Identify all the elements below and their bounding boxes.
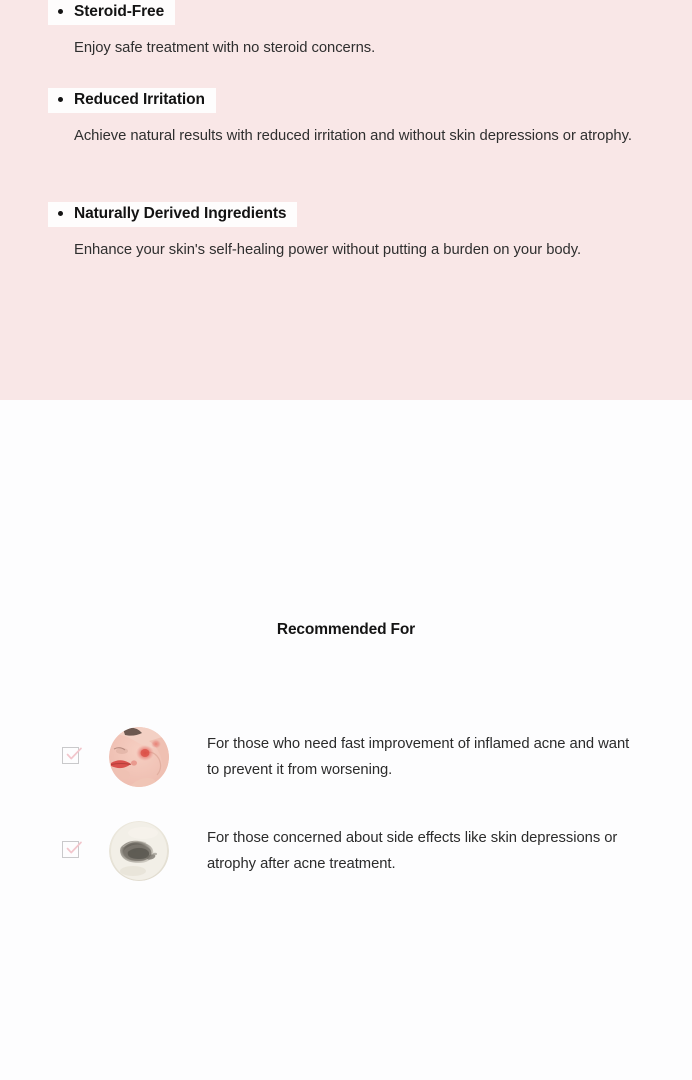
inflamed-acne-face-photo — [109, 727, 169, 787]
benefit-title-highlight: Naturally Derived Ingredients — [48, 202, 297, 227]
benefits-section: Steroid-Free Enjoy safe treatment with n… — [0, 0, 692, 400]
benefit-heading-row: Steroid-Free — [0, 0, 692, 25]
benefit-heading-row: Naturally Derived Ingredients — [0, 202, 692, 227]
benefit-description: Achieve natural results with reduced irr… — [0, 122, 692, 151]
benefit-title: Reduced Irritation — [74, 91, 205, 109]
bullet-dot-icon — [58, 211, 63, 216]
skin-depression-atrophy-photo — [109, 821, 169, 881]
benefit-description: Enhance your skin's self-healing power w… — [0, 236, 692, 265]
benefit-description: Enjoy safe treatment with no steroid con… — [0, 34, 692, 63]
benefit-item: Naturally Derived Ingredients Enhance yo… — [0, 202, 692, 264]
benefit-title-highlight: Steroid-Free — [48, 0, 175, 25]
bullet-dot-icon — [58, 9, 63, 14]
recommended-for-title: Recommended For — [0, 621, 692, 639]
recommendation-text: For those who need fast improvement of i… — [207, 731, 637, 783]
benefit-item: Steroid-Free Enjoy safe treatment with n… — [0, 0, 692, 62]
recommendation-text: For those concerned about side effects l… — [207, 825, 637, 877]
recommended-list: For those who need fast improvement of i… — [0, 721, 692, 909]
recommendation-row: For those concerned about side effects l… — [0, 815, 692, 887]
recommended-for-section: Recommended For — [0, 400, 692, 1080]
bullet-dot-icon — [58, 97, 63, 102]
benefit-title-highlight: Reduced Irritation — [48, 88, 216, 113]
checkbox-checked-icon — [62, 747, 82, 767]
checkbox-checked-icon — [62, 841, 82, 861]
benefit-heading-row: Reduced Irritation — [0, 88, 692, 113]
recommendation-row: For those who need fast improvement of i… — [0, 721, 692, 793]
benefit-item: Reduced Irritation Achieve natural resul… — [0, 88, 692, 150]
benefit-title: Steroid-Free — [74, 3, 164, 21]
benefit-title: Naturally Derived Ingredients — [74, 205, 286, 223]
